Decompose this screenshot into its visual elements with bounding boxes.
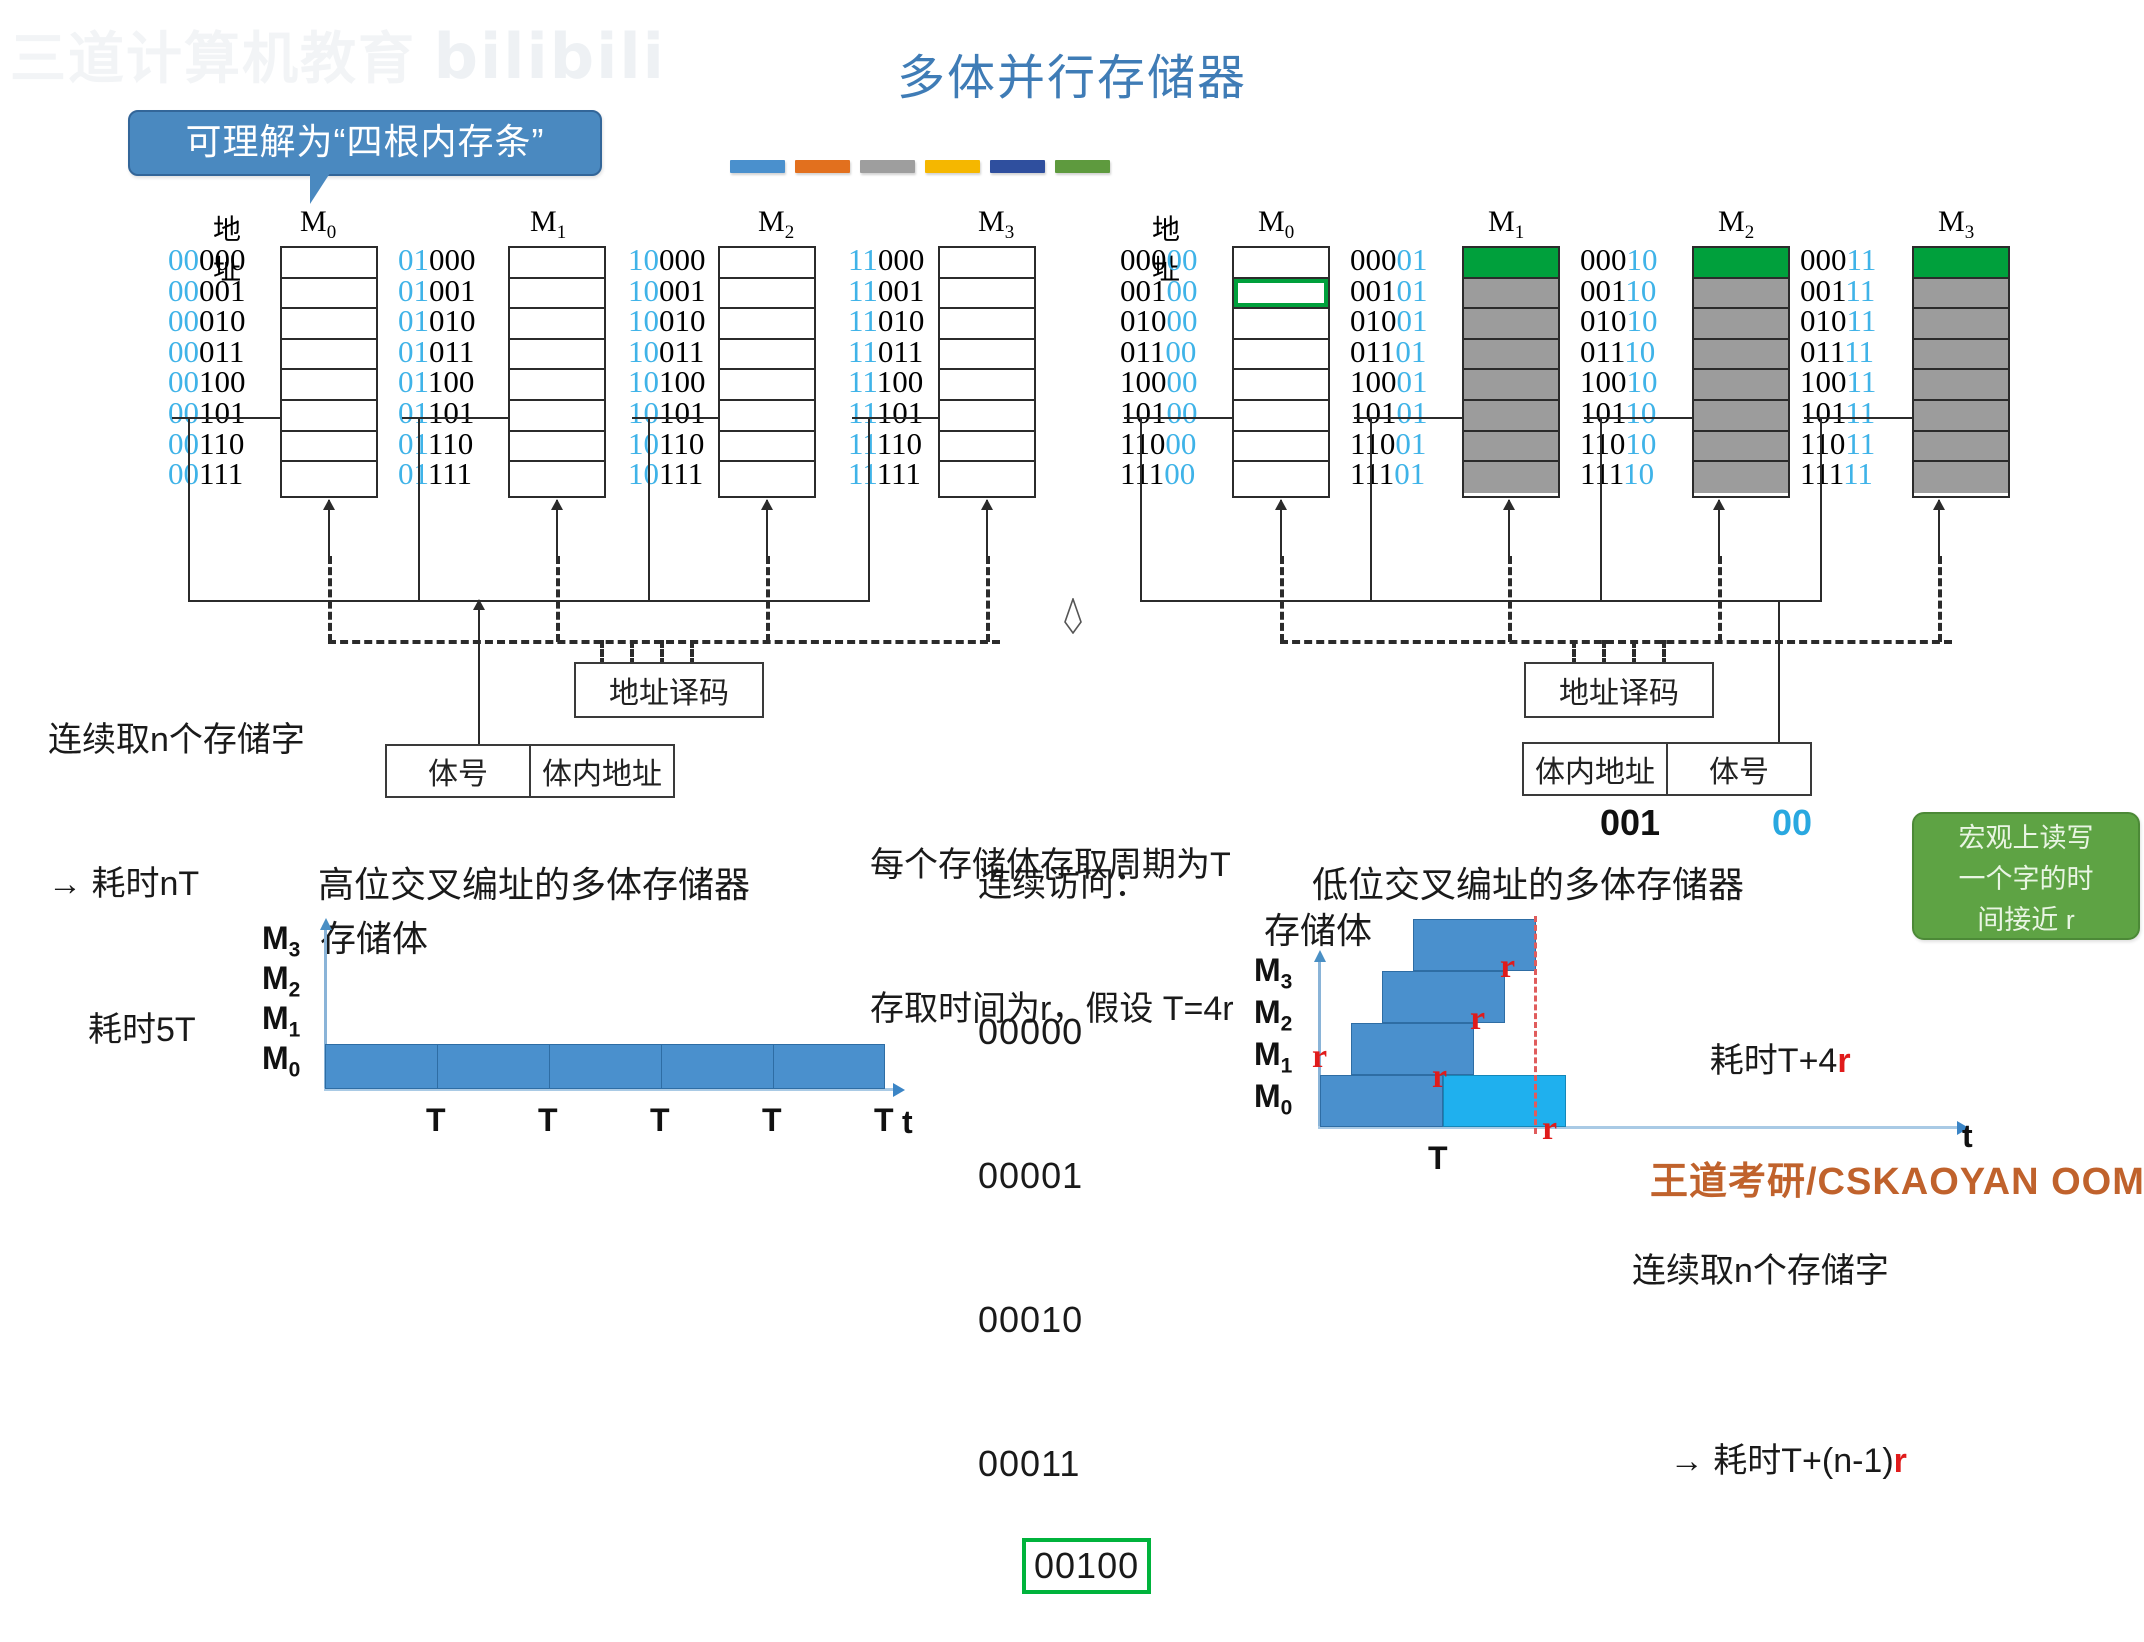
right-bus-v2	[1600, 418, 1602, 602]
chart1-ylabel: 存储体	[320, 916, 428, 962]
addr-row: 00011	[168, 337, 246, 368]
addr-row: 10110	[1580, 398, 1658, 429]
chart2-ytick-m3: M3	[1254, 952, 1292, 994]
left-arrow-m1	[556, 500, 558, 560]
list-item: 00001	[978, 1152, 1151, 1200]
right-arrow-m1	[1508, 500, 1510, 560]
addr-row: 01100	[398, 367, 476, 398]
chart1-ytick-m1: M1	[262, 1000, 300, 1042]
chart1-tick-t5: T	[874, 1102, 894, 1139]
left-arrow-m2	[766, 500, 768, 560]
chart1-xlabel: t	[902, 1104, 913, 1141]
addr-row: 10011	[628, 337, 706, 368]
watermark: 三道计算机教育 bilibili	[10, 14, 666, 95]
chart1-tick-t4: T	[762, 1102, 782, 1139]
right-bus-v3	[1820, 418, 1822, 602]
addr-row: 01111	[1800, 337, 1876, 368]
chart1-seg-1	[437, 1044, 438, 1089]
right-field-inbank-addr: 体内地址	[1524, 744, 1668, 794]
right-cellbox-m2	[1692, 246, 1790, 498]
right-note-cost-r: r	[1837, 1042, 1850, 1080]
addr-row: 11110	[848, 429, 924, 460]
left-bank-label-m3: M3	[978, 205, 1014, 244]
access-list-items: 00000 00001 00010 00011 00100	[978, 912, 1151, 1642]
addr-row: 01111	[398, 459, 476, 490]
right-note-cost-pre: 耗时T+4	[1710, 1042, 1838, 1080]
addr-row: 11101	[1350, 459, 1428, 490]
addr-row: 00011	[1800, 245, 1876, 276]
addr-row: 11101	[848, 398, 924, 429]
addr-row: 11011	[1800, 429, 1876, 460]
addr-row: 00001	[1350, 245, 1428, 276]
right-arrow-m3	[1938, 500, 1940, 560]
right-note-formula-r: r	[1894, 1442, 1907, 1480]
chart2-bar-m1	[1351, 1023, 1474, 1075]
right-notes: 耗时T+4r 连续取n个存储字 → 耗时T+(n-1)r	[1672, 900, 1907, 1576]
chart1-seg-3	[661, 1044, 662, 1089]
addr-row: 00000	[1120, 245, 1198, 276]
addr-row: 00110	[1580, 276, 1658, 307]
right-bankno-line	[1778, 600, 1780, 744]
left-addr-col-1: 01000 01001 01010 01011 01100 01101 0111…	[398, 245, 476, 490]
right-arrow-m2	[1718, 500, 1720, 560]
bilibili-logo: bilibili	[434, 20, 666, 93]
color-bar-5	[990, 160, 1045, 173]
right-note-cost-line: 耗时T+4r	[1672, 992, 1907, 1130]
addr-row: 01000	[1120, 306, 1198, 337]
chart1-tick-t2: T	[538, 1102, 558, 1139]
list-item: 00010	[978, 1296, 1151, 1344]
addr-row: 01010	[398, 306, 476, 337]
addr-row: 01110	[398, 429, 476, 460]
right-addr-col-2: 00010 00110 01010 01110 10010 10110 1101…	[1580, 245, 1658, 490]
right-bank-label-m1: M1	[1488, 205, 1524, 244]
addr-row: 10101	[628, 398, 706, 429]
left-note-line1: 连续取n个存储字	[48, 717, 305, 763]
addr-row: 00110	[168, 429, 246, 460]
addr-row: 11110	[1580, 459, 1658, 490]
chart2-annotation-r2: r	[1432, 1058, 1447, 1096]
left-arrow-m3	[986, 500, 988, 560]
right-bus-v1	[1370, 418, 1372, 602]
addr-row: 01010	[1580, 306, 1658, 337]
addr-row: 11010	[1580, 429, 1658, 460]
chart2-annotation-r4: r	[1500, 948, 1515, 986]
left-cellbox-m0	[280, 246, 378, 498]
color-bar-2	[795, 160, 850, 173]
list-item-highlighted: 00100	[1022, 1538, 1151, 1594]
addr-row: 01001	[1350, 306, 1428, 337]
chart2-bar-m2	[1382, 971, 1505, 1023]
chart2-ytick-m2: M2	[1254, 994, 1292, 1036]
left-note-line2: → 耗时nT	[48, 861, 305, 907]
addr-row: 11001	[848, 276, 924, 307]
callout-green-line2: 一个字的时	[1914, 859, 2138, 900]
chart1-title: 高位交叉编址的多体存储器	[318, 862, 750, 908]
addr-row: 11100	[848, 367, 924, 398]
left-arrow-m0	[328, 500, 330, 560]
right-cellbox-m0	[1232, 246, 1330, 498]
access-list-header: 连续访问：	[978, 862, 1151, 908]
right-bank-label-m0: M0	[1258, 205, 1294, 244]
right-arrow-m0	[1280, 500, 1282, 560]
list-item: 00011	[978, 1440, 1151, 1488]
right-addr-col-1: 00001 00101 01001 01101 10001 10101 1100…	[1350, 245, 1428, 490]
addr-row: 10001	[1350, 367, 1428, 398]
color-bar-3	[860, 160, 915, 173]
addr-row: 00100	[1120, 276, 1198, 307]
page-title: 多体并行存储器	[822, 38, 1322, 108]
right-note-ncontinuous: 连续取n个存储字	[1632, 1248, 1907, 1294]
callout-green-line3: 间接近 r	[1914, 900, 2138, 941]
right-dash-v0	[1280, 556, 1284, 642]
addr-row: 10000	[628, 245, 706, 276]
addr-row: 01101	[1350, 337, 1428, 368]
right-bus-v0	[1140, 418, 1142, 602]
chart2-annotation-r5: r	[1542, 1110, 1557, 1148]
chart1-tick-t1: T	[426, 1102, 446, 1139]
callout-blue: 可理解为“四根内存条”	[128, 110, 602, 176]
left-cellbox-m3	[938, 246, 1036, 498]
right-field-bank-no: 体号	[1668, 744, 1810, 794]
addr-row: 00111	[1800, 276, 1876, 307]
left-dash-h	[328, 640, 1000, 644]
left-cellbox-m1	[508, 246, 606, 498]
addr-row: 00111	[168, 459, 246, 490]
left-bank-label-m0: M0	[300, 205, 336, 244]
right-decoder-box: 地址译码	[1524, 662, 1714, 718]
chart1-ytick-m2: M2	[262, 960, 300, 1002]
selected-cell	[1234, 279, 1328, 310]
addr-row: 01000	[398, 245, 476, 276]
left-address-register: 体号 体内地址	[385, 744, 675, 798]
addr-row: 10010	[628, 306, 706, 337]
left-cellbox-m2	[718, 246, 816, 498]
chart2-ytick-m0: M0	[1254, 1078, 1292, 1120]
addr-row: 01001	[398, 276, 476, 307]
addr-row: 10111	[628, 459, 706, 490]
chart2-annotation-r3: r	[1470, 1000, 1485, 1038]
addr-row: 01100	[1120, 337, 1198, 368]
addr-row: 00010	[168, 306, 246, 337]
addr-row: 00001	[168, 276, 246, 307]
addr-row: 01011	[398, 337, 476, 368]
left-dash-v3	[986, 556, 990, 642]
left-addr-col-3: 11000 11001 11010 11011 11100 11101 1111…	[848, 245, 924, 490]
chart1-tick-t3: T	[650, 1102, 670, 1139]
list-item: 00000	[978, 1008, 1151, 1056]
addr-row: 00010	[1580, 245, 1658, 276]
left-dash-v0	[328, 556, 332, 642]
addr-row: 01110	[1580, 337, 1658, 368]
addr-row: 10000	[1120, 367, 1198, 398]
left-arrow-addr	[478, 600, 480, 748]
right-dash-h	[1280, 640, 1952, 644]
addr-row: 11001	[1350, 429, 1428, 460]
left-dash-v1	[556, 556, 560, 642]
left-addr-col-0: 00000 00001 00010 00011 00100 00101 0011…	[168, 245, 246, 490]
addr-row: 11011	[848, 337, 924, 368]
chart1-ytick-m0: M0	[262, 1040, 300, 1082]
addr-row: 00101	[168, 398, 246, 429]
pencil-icon	[1062, 598, 1084, 634]
right-dash-v2	[1718, 556, 1722, 642]
addr-row: 10001	[628, 276, 706, 307]
color-bar-1	[730, 160, 785, 173]
chart2-ylabel: 存储体	[1264, 908, 1372, 954]
addr-row: 00100	[168, 367, 246, 398]
chart2-marker-line	[1534, 916, 1537, 1134]
color-bar-6	[1055, 160, 1110, 173]
addr-row: 10110	[628, 429, 706, 460]
chart2-tick-t: T	[1428, 1140, 1448, 1177]
left-bank-label-m1: M1	[530, 205, 566, 244]
addr-row: 00101	[1350, 276, 1428, 307]
left-bus-v2	[648, 418, 650, 602]
right-addr-value-inbank: 001	[1600, 802, 1660, 844]
right-addr-value-bankno: 00	[1772, 802, 1812, 844]
addr-row: 11111	[1800, 459, 1876, 490]
watermark-text: 三道计算机教育	[10, 27, 416, 90]
addr-row: 01101	[398, 398, 476, 429]
addr-row: 10100	[1120, 398, 1198, 429]
chart1-seg-2	[549, 1044, 550, 1089]
left-decoder-box: 地址译码	[574, 662, 764, 718]
chart2-bar-m0	[1320, 1075, 1443, 1127]
left-bus-v1	[418, 418, 420, 602]
chart2-annotation-r1: r	[1312, 1038, 1327, 1076]
addr-row: 11100	[1120, 459, 1198, 490]
chart1-seg-4	[773, 1044, 774, 1089]
left-bank-label-m2: M2	[758, 205, 794, 244]
addr-row: 10111	[1800, 398, 1876, 429]
right-bank-label-m2: M2	[1718, 205, 1754, 244]
color-bar-4	[925, 160, 980, 173]
addr-row: 01011	[1800, 306, 1876, 337]
brand-watermark: 王道考研/CSKAOYAN OOM	[1650, 1150, 2144, 1205]
addr-row: 10101	[1350, 398, 1428, 429]
addr-row: 11000	[848, 245, 924, 276]
callout-green-line1: 宏观上读写	[1914, 818, 2138, 859]
addr-row: 10100	[628, 367, 706, 398]
right-bank-label-m3: M3	[1938, 205, 1974, 244]
left-field-bank-no: 体号	[387, 746, 531, 796]
chart2-bar-m3	[1413, 919, 1536, 971]
right-cellbox-m3	[1912, 246, 2010, 498]
right-cellbox-m1	[1462, 246, 1560, 498]
callout-green: 宏观上读写 一个字的时 间接近 r	[1912, 812, 2140, 940]
chart1-ytick-m3: M3	[262, 920, 300, 962]
right-note-formula-line: → 耗时T+(n-1)r	[1632, 1392, 1907, 1530]
right-dash-v1	[1508, 556, 1512, 642]
left-bus-v3	[868, 418, 870, 602]
right-dash-v3	[1938, 556, 1942, 642]
left-field-inbank-addr: 体内地址	[531, 746, 673, 796]
left-dash-v2	[766, 556, 770, 642]
right-addr-col-3: 00011 00111 01011 01111 10011 10111 1101…	[1800, 245, 1876, 490]
left-addr-col-2: 10000 10001 10010 10011 10100 10101 1011…	[628, 245, 706, 490]
left-bus-v0	[188, 418, 190, 602]
chart2-ytick-m1: M1	[1254, 1036, 1292, 1078]
access-list: 连续访问： 00000 00001 00010 00011 00100	[978, 862, 1151, 1642]
right-address-register: 体内地址 体号	[1522, 742, 1812, 796]
addr-row: 10011	[1800, 367, 1876, 398]
title-color-bars	[730, 160, 1110, 173]
addr-row: 00000	[168, 245, 246, 276]
chart1-bar-m0	[325, 1044, 885, 1089]
addr-row: 11111	[848, 459, 924, 490]
addr-row: 11000	[1120, 429, 1198, 460]
right-addr-col-0: 00000 00100 01000 01100 10000 10100 1100…	[1120, 245, 1198, 490]
addr-row: 11010	[848, 306, 924, 337]
addr-row: 10010	[1580, 367, 1658, 398]
right-note-formula-pre: → 耗时T+(n-1)	[1670, 1442, 1894, 1480]
callout-blue-tail	[310, 170, 374, 204]
